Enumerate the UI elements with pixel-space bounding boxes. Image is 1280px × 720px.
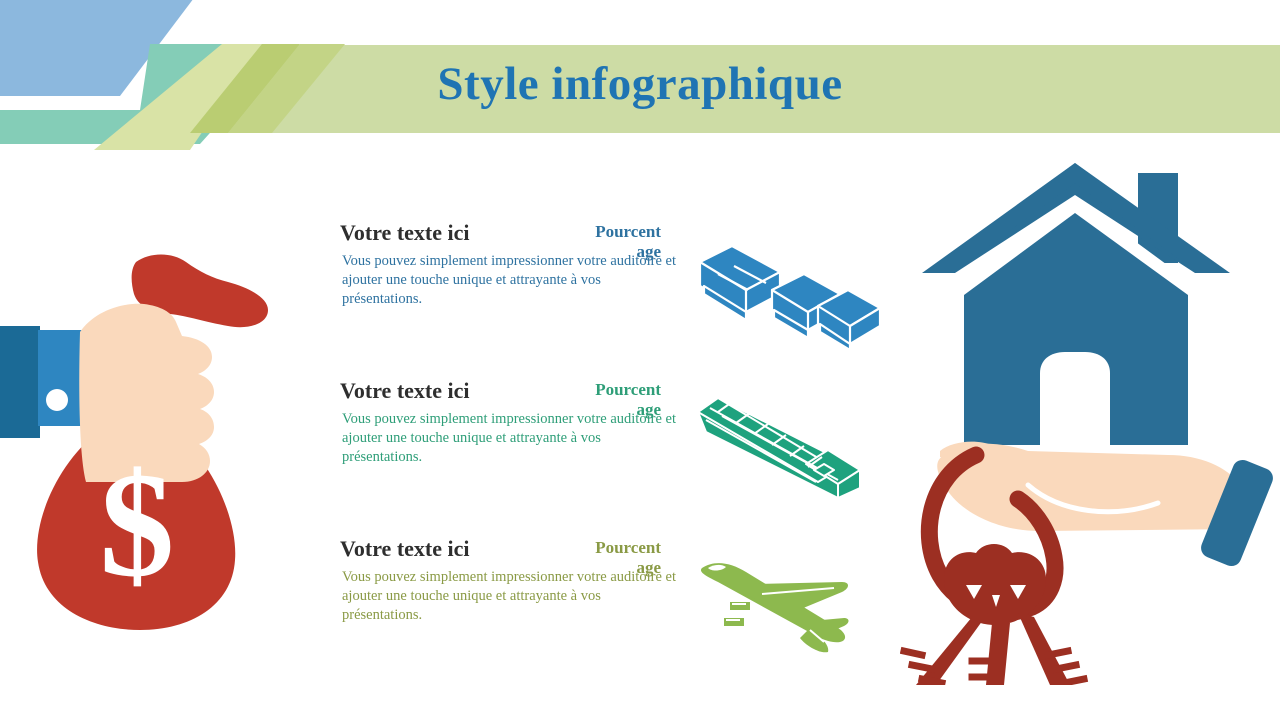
row-percent-label: Pourcentage (593, 222, 661, 262)
content-row-2: Votre texte ici Vous pouvez simplement i… (338, 378, 883, 536)
hand-holding-house-illustration (900, 155, 1280, 685)
cargo-ship-icon (688, 386, 883, 506)
key-tooth (912, 665, 932, 669)
train-icon (688, 228, 883, 348)
key-tooth (1056, 665, 1076, 669)
row-percent-label: Pourcentage (593, 380, 661, 420)
dollar-sign-label: $ (100, 442, 175, 608)
content-row-1: Votre texte ici Vous pouvez simplement i… (338, 220, 883, 378)
airplane-icon (688, 544, 883, 664)
sleeve-light (38, 330, 83, 426)
key-tooth (904, 651, 922, 655)
page-title: Style infographique (0, 49, 1280, 119)
sleeve-cuff-dark (0, 326, 40, 438)
open-palm-shape (937, 444, 1253, 531)
sleeve-button-icon (46, 389, 68, 411)
content-rows: Votre texte ici Vous pouvez simplement i… (338, 220, 883, 694)
key-tooth (1048, 651, 1068, 655)
key-tooth (922, 679, 942, 683)
key-tooth (1064, 679, 1084, 683)
house-door (1040, 352, 1110, 447)
content-row-3: Votre texte ici Vous pouvez simplement i… (338, 536, 883, 694)
row-percent-label: Pourcentage (593, 538, 661, 578)
header-banner: Style infographique (0, 0, 1280, 150)
hand-holding-money-bag-illustration: $ (0, 250, 300, 630)
